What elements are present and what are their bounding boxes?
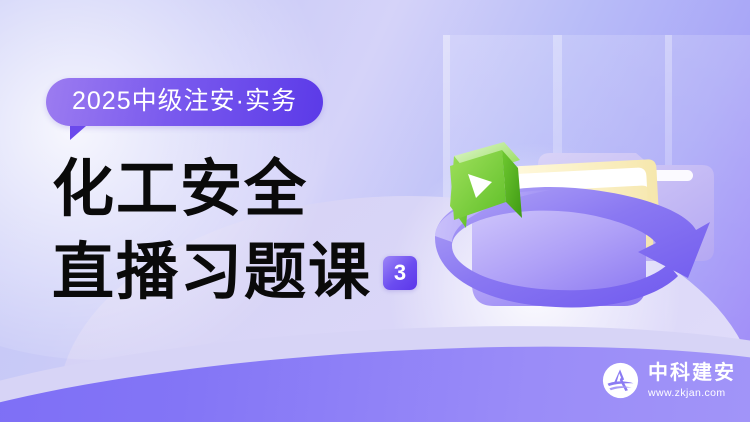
episode-badge: 3 xyxy=(383,256,417,290)
brand-url: www.zkjan.com xyxy=(648,386,736,400)
title-line-2-text: 直播习题课 xyxy=(52,235,372,308)
course-badge-label: 2025中级注安·实务 xyxy=(72,87,297,115)
badge-tail xyxy=(70,126,86,140)
brand-logo[interactable]: 中科建安 www.zkjan.com xyxy=(602,362,736,400)
title-line-1-text: 化工安全 xyxy=(52,152,308,225)
course-badge-pill: 2025中级注安·实务 xyxy=(46,78,323,126)
brand-name: 中科建安 xyxy=(648,362,736,384)
title-line-2: 直播习题课3 xyxy=(52,241,417,303)
page-title: 化工安全 直播习题课3 xyxy=(52,158,417,303)
course-poster: 2025中级注安·实务 化工安全 直播习题课3 中科建安 www.zkjan.c… xyxy=(0,0,750,422)
folder-illustration xyxy=(400,110,730,340)
course-badge: 2025中级注安·实务 xyxy=(46,78,323,126)
title-line-1: 化工安全 xyxy=(52,158,417,220)
zkjan-logo-icon xyxy=(602,362,639,399)
brand-text: 中科建安 www.zkjan.com xyxy=(648,362,736,400)
